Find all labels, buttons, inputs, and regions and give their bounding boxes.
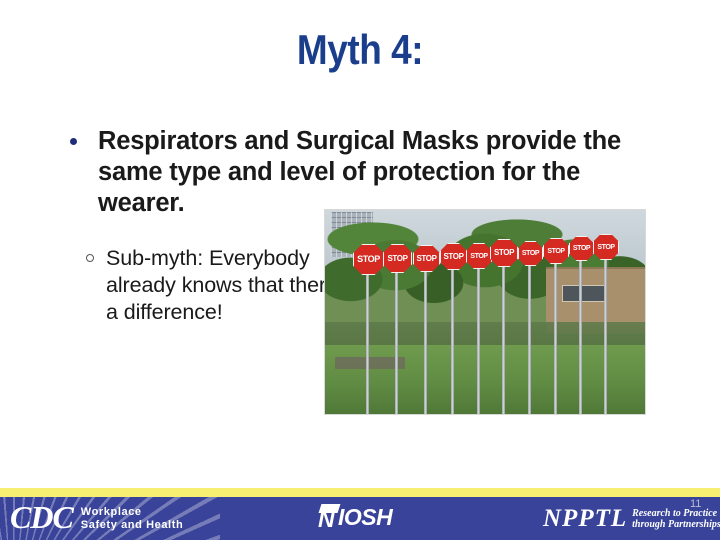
stop-sign-post — [451, 266, 454, 414]
stop-sign-post — [477, 265, 480, 414]
stop-signs-photo: STOPSTOPSTOPSTOPSTOPSTOPSTOPSTOPSTOPSTOP — [324, 209, 646, 415]
niosh-wordmark: IOSH — [338, 507, 392, 528]
footer-bar: CDC Workplace Safety and Health N IOSH N… — [0, 497, 720, 540]
stop-sign-post — [366, 271, 369, 414]
page-title: Myth 4: — [43, 26, 677, 74]
slide: Myth 4: Respirators and Surgical Masks p… — [0, 0, 720, 540]
npptl-tagline-line2: through Partnerships — [632, 519, 720, 530]
niosh-logo: N IOSH — [318, 504, 392, 528]
page-number: 11 — [690, 498, 701, 510]
stop-sign-post — [395, 269, 398, 414]
stop-sign-post — [554, 260, 557, 414]
stop-sign-post — [604, 256, 607, 414]
stop-sign: STOP — [518, 241, 543, 266]
cdc-tagline-line2: Safety and Health — [81, 519, 184, 532]
cdc-tagline-line1: Workplace — [81, 506, 184, 519]
stop-sign-post — [528, 262, 531, 414]
hollow-round-bullet-icon — [86, 254, 94, 262]
niosh-flag-icon: N — [318, 504, 340, 528]
stop-sign-post — [502, 263, 505, 414]
niosh-initial: N — [318, 509, 335, 529]
photo-building-window — [562, 285, 606, 301]
stop-sign: STOP — [490, 239, 518, 267]
stop-sign: STOP — [569, 236, 594, 261]
footer-accent-bar — [0, 488, 720, 497]
npptl-tagline: Research to Practice through Partnership… — [632, 508, 720, 530]
stop-sign: STOP — [593, 234, 619, 260]
cdc-wordmark: CDC — [10, 500, 73, 534]
photo-grass — [325, 345, 645, 414]
stop-sign: STOP — [383, 244, 412, 273]
stop-sign-post — [424, 268, 427, 414]
stop-sign-post — [579, 257, 582, 414]
npptl-tagline-line1: Research to Practice — [632, 508, 720, 519]
bullet-text-sub: Sub-myth: Everybody already knows that t… — [106, 246, 353, 324]
filled-round-bullet-icon — [70, 138, 77, 145]
cdc-logo: CDC Workplace Safety and Health — [10, 500, 183, 534]
bullet-item-sub: Sub-myth: Everybody already knows that t… — [62, 245, 356, 326]
stop-sign: STOP — [543, 238, 569, 264]
bullet-item-primary: Respirators and Surgical Masks provide t… — [62, 126, 657, 219]
bullet-text-primary: Respirators and Surgical Masks provide t… — [98, 127, 621, 217]
npptl-wordmark: NPPTL — [543, 506, 627, 532]
cdc-tagline: Workplace Safety and Health — [81, 506, 184, 531]
